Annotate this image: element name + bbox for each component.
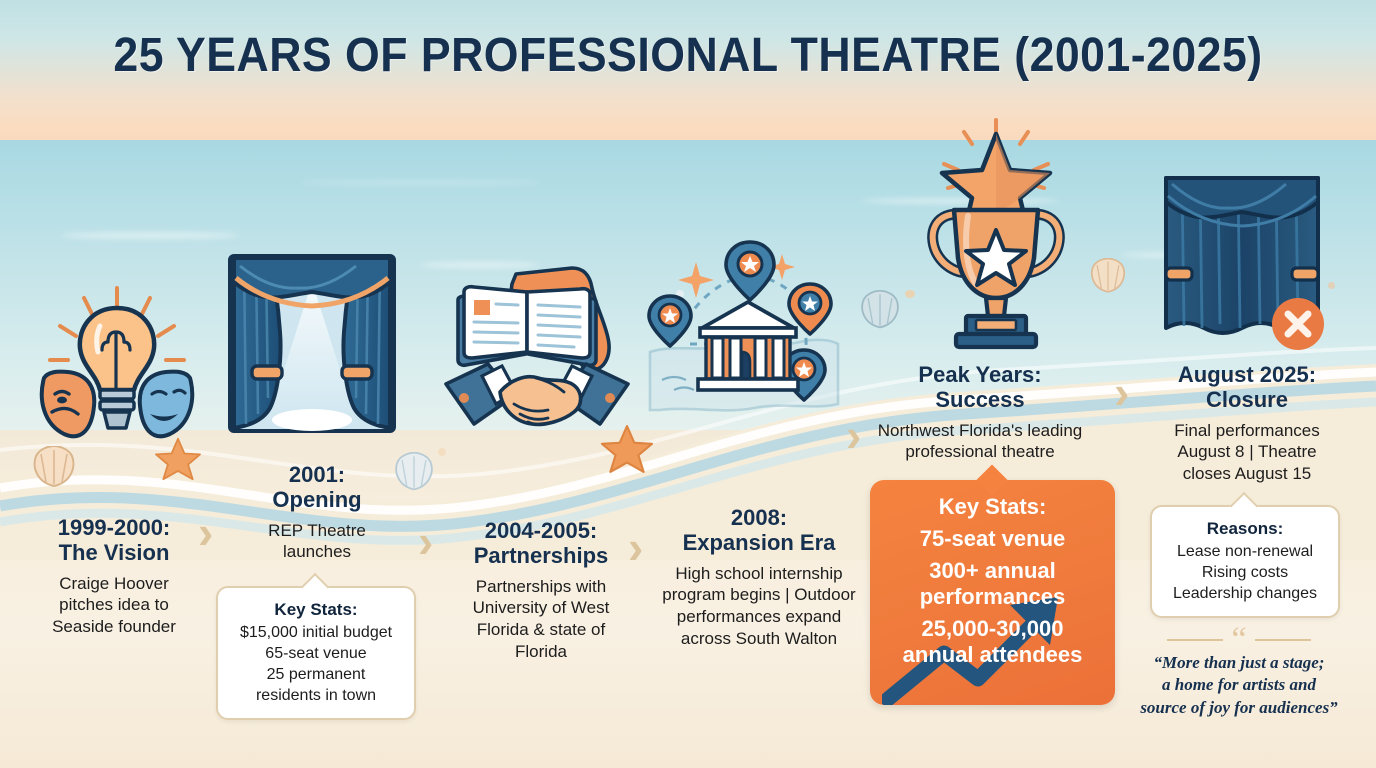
seashell-icon bbox=[858, 290, 902, 330]
milestone-expansion-title: 2008: Expansion Era bbox=[654, 505, 864, 556]
milestone-opening: 2001: Opening REP Theatre launches bbox=[228, 462, 406, 563]
divider-line-right bbox=[1255, 639, 1311, 641]
milestone-closure-desc: Final performances August 8 | Theatre cl… bbox=[1140, 420, 1354, 485]
quote-divider: “ bbox=[1104, 630, 1374, 650]
milestone-expansion-desc: High school internship program begins | … bbox=[654, 563, 864, 650]
page-title: 25 YEARS OF PROFESSIONAL THEATRE (2001-2… bbox=[48, 28, 1328, 83]
key-stat-line-3: 25,000-30,000 annual attendees bbox=[882, 616, 1103, 668]
quote-mark-icon: “ bbox=[1231, 630, 1246, 650]
seashell-icon bbox=[1088, 258, 1128, 294]
key-stats-card-peak: Key Stats: 75-seat venue 300+ annual per… bbox=[870, 480, 1115, 705]
milestone-vision-title: 1999-2000: The Vision bbox=[18, 515, 210, 566]
lightbulb-theatre-masks-icon bbox=[22, 282, 212, 462]
chevron-right-icon-5: › bbox=[1114, 365, 1129, 419]
trophy-star-icon bbox=[912, 118, 1080, 350]
key-stats-body: $15,000 initial budget 65-seat venue 25 … bbox=[232, 622, 400, 706]
map-pins-building-icon bbox=[644, 232, 840, 422]
milestone-partnerships-title: 2004-2005: Partnerships bbox=[446, 518, 636, 569]
handshake-book-florida-icon bbox=[444, 258, 630, 442]
milestone-opening-title: 2001: Opening bbox=[228, 462, 406, 513]
milestone-peak-title: Peak Years: Success bbox=[872, 362, 1088, 413]
chevron-right-icon-2: › bbox=[418, 514, 433, 568]
key-stat-line-1: 75-seat venue bbox=[882, 526, 1103, 552]
divider-line-left bbox=[1167, 639, 1223, 641]
closed-curtain-x-icon bbox=[1158, 172, 1326, 354]
milestone-vision-desc: Craige Hoover pitches idea to Seaside fo… bbox=[18, 573, 210, 638]
milestone-peak: Peak Years: Success Northwest Florida's … bbox=[872, 362, 1088, 463]
reasons-body: Lease non-renewal Rising costs Leadershi… bbox=[1166, 541, 1324, 604]
key-stats-title-peak: Key Stats: bbox=[882, 494, 1103, 520]
milestone-vision: 1999-2000: The Vision Craige Hoover pitc… bbox=[18, 515, 210, 638]
ocean-streak bbox=[300, 180, 540, 185]
ocean-streak bbox=[60, 232, 240, 239]
milestone-expansion: 2008: Expansion Era High school internsh… bbox=[654, 505, 864, 650]
milestone-peak-desc: Northwest Florida's leading professional… bbox=[872, 420, 1088, 464]
infographic-canvas: 25 YEARS OF PROFESSIONAL THEATRE (2001-2… bbox=[0, 0, 1376, 768]
closing-quote: “ “More than just a stage; a home for ar… bbox=[1104, 630, 1374, 719]
sand-speck bbox=[1328, 282, 1335, 289]
key-stats-title: Key Stats: bbox=[232, 600, 400, 620]
quote-text: “More than just a stage; a home for arti… bbox=[1104, 652, 1374, 718]
reasons-card-closure: Reasons: Lease non-renewal Rising costs … bbox=[1150, 505, 1340, 618]
key-stats-card-opening: Key Stats: $15,000 initial budget 65-sea… bbox=[216, 586, 416, 720]
milestone-opening-desc: REP Theatre launches bbox=[228, 520, 406, 564]
chevron-right-icon-4: › bbox=[846, 408, 861, 462]
milestone-partnerships: 2004-2005: Partnerships Partnerships wit… bbox=[446, 518, 636, 663]
open-stage-curtain-icon bbox=[222, 248, 402, 438]
sand-speck bbox=[438, 448, 446, 456]
milestone-partnerships-desc: Partnerships with University of West Flo… bbox=[446, 576, 636, 663]
reasons-title: Reasons: bbox=[1166, 519, 1324, 539]
milestone-closure: August 2025: Closure Final performances … bbox=[1140, 362, 1354, 485]
key-stat-line-2: 300+ annual performances bbox=[882, 558, 1103, 610]
milestone-closure-title: August 2025: Closure bbox=[1140, 362, 1354, 413]
